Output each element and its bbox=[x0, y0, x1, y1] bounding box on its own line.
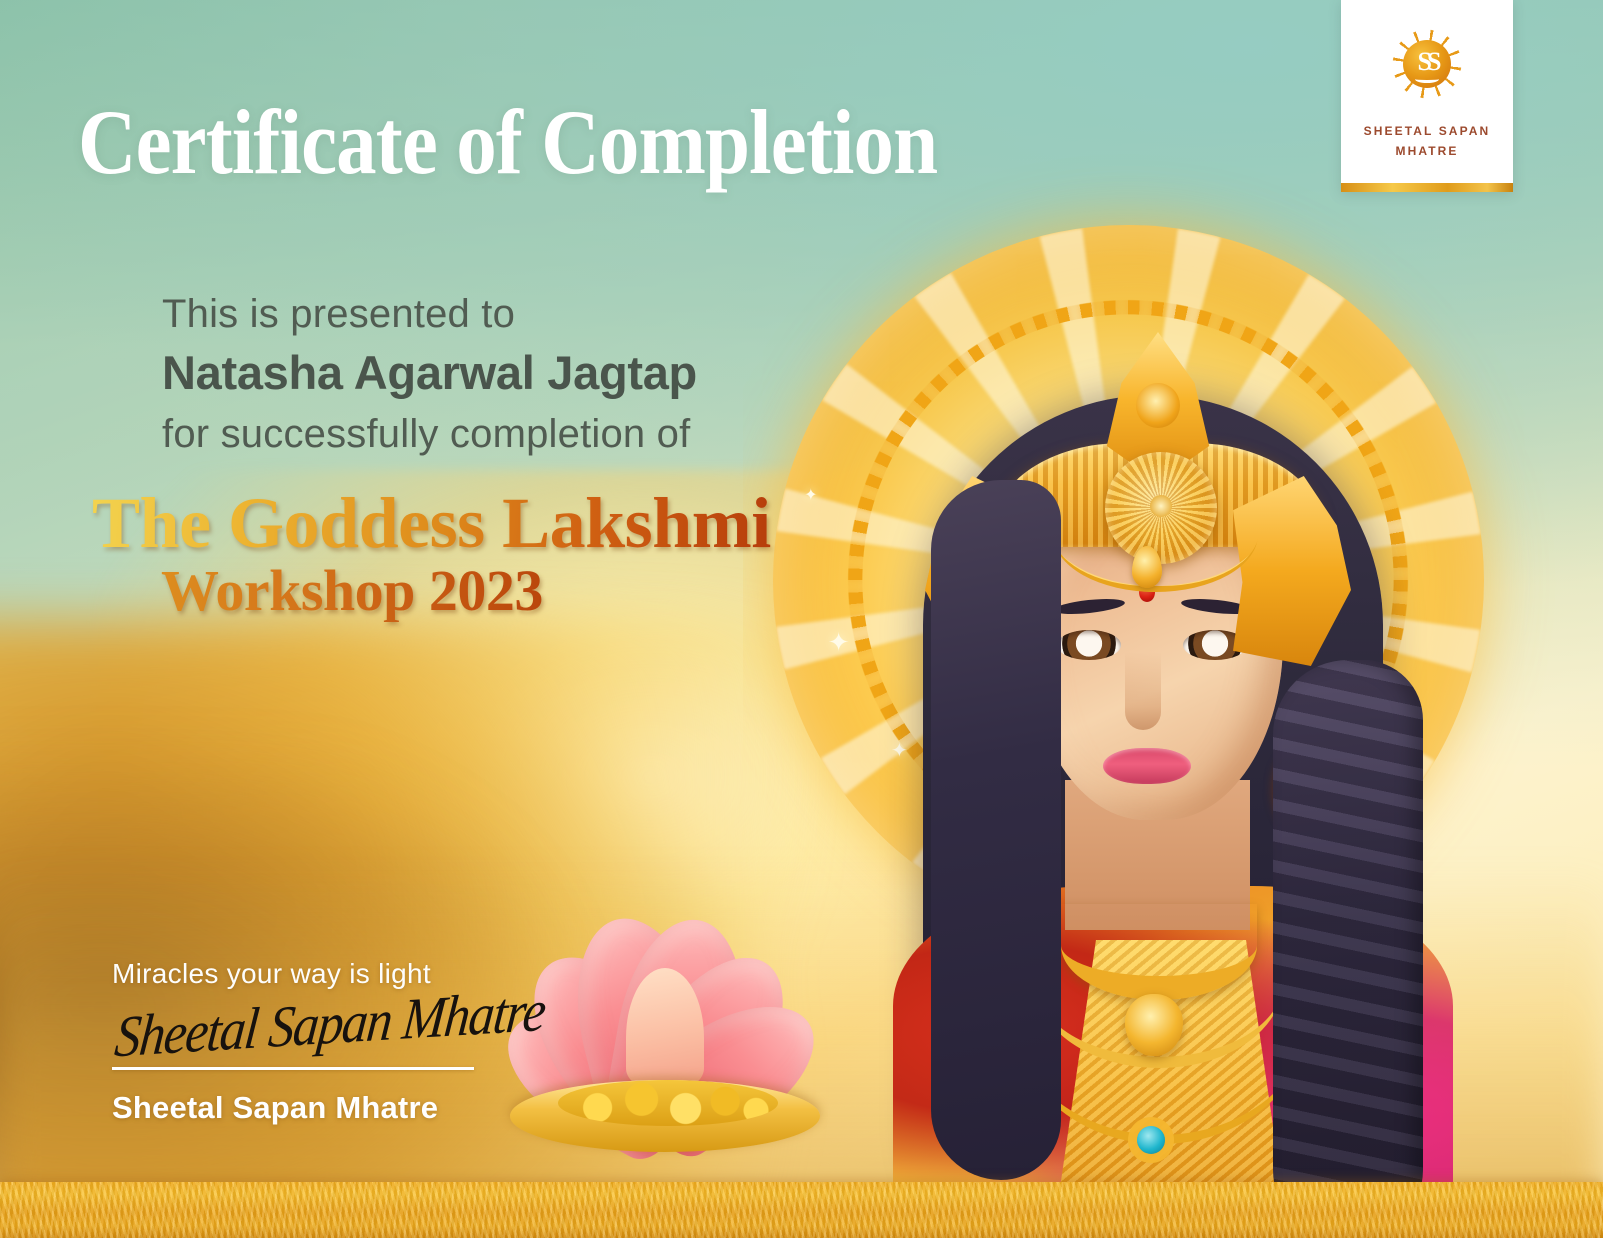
sun-smile-icon bbox=[1415, 76, 1438, 84]
page-title: Certificate of Completion bbox=[78, 96, 937, 188]
sun-face-glyph: SS bbox=[1379, 14, 1475, 110]
course-title-line1: The Goddess Lakshmi bbox=[92, 487, 792, 559]
brand-name-line1: SHEETAL SAPAN bbox=[1364, 122, 1491, 142]
gold-footer-band bbox=[0, 1182, 1603, 1238]
course-title-line2: Workshop 2023 bbox=[92, 561, 612, 622]
sun-icon: SS bbox=[1379, 16, 1475, 112]
pink-lotus-flower bbox=[500, 790, 830, 1150]
recipient-name: Natasha Agarwal Jagtap bbox=[162, 345, 697, 400]
necklace-pendant bbox=[1125, 994, 1183, 1056]
presentation-block: This is presented to Natasha Agarwal Jag… bbox=[162, 292, 697, 457]
nose bbox=[1125, 652, 1161, 730]
hair-front-left bbox=[931, 480, 1061, 1180]
certificate-canvas: ✦ ✦ ✦ bbox=[0, 0, 1603, 1238]
signature-block: Sheetal Sapan Mhatre Sheetal Sapan Mhatr… bbox=[112, 1012, 512, 1126]
brand-name: SHEETAL SAPAN MHATRE bbox=[1364, 122, 1491, 162]
turquoise-gem bbox=[1137, 1126, 1165, 1154]
logo-gold-bar bbox=[1341, 183, 1513, 192]
eye-left bbox=[1057, 630, 1121, 660]
gold-coins bbox=[558, 1080, 778, 1126]
tagline: Miracles your way is light bbox=[112, 958, 431, 990]
lips bbox=[1103, 748, 1191, 784]
presented-to-label: This is presented to bbox=[162, 292, 697, 337]
brand-logo-card: SS SHEETAL SAPAN MHATRE bbox=[1341, 0, 1513, 192]
brand-name-line2: MHATRE bbox=[1364, 142, 1491, 162]
completion-label: for successfully completion of bbox=[162, 412, 697, 457]
goddess-figure bbox=[803, 300, 1523, 1238]
hair-braid-right bbox=[1273, 660, 1423, 1238]
course-title-block: The Goddess Lakshmi Workshop 2023 bbox=[92, 487, 792, 622]
signer-name: Sheetal Sapan Mhatre bbox=[112, 1090, 512, 1126]
